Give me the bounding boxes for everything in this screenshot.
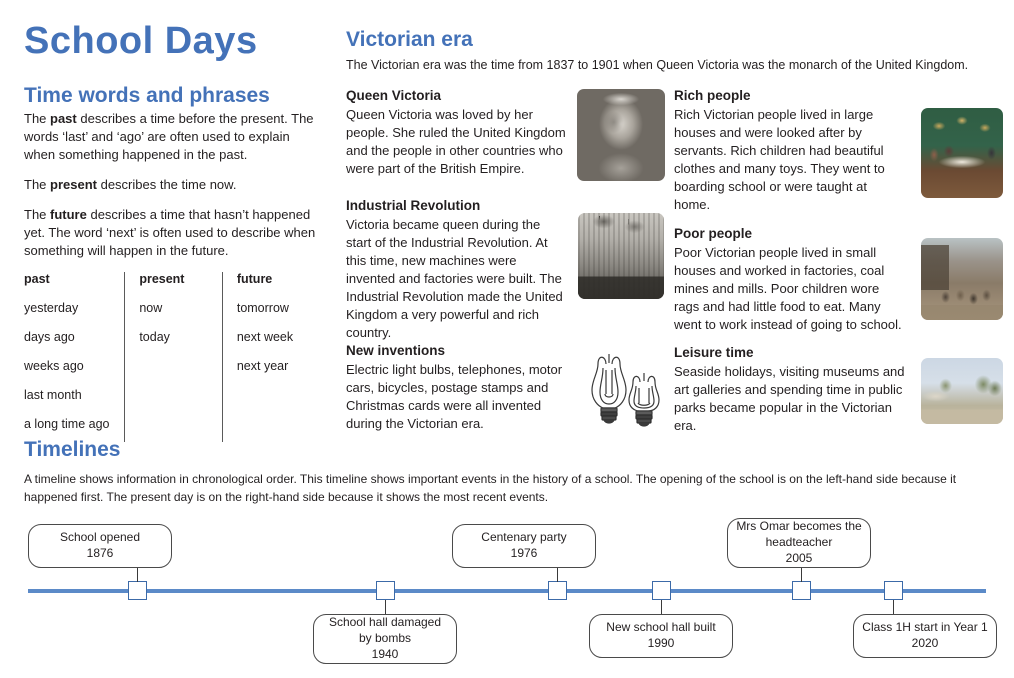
timelines-intro-text: A timeline shows information in chronolo… xyxy=(24,470,986,506)
page-title: School Days xyxy=(24,20,258,63)
block-rich-people: Rich people Rich Victorian people lived … xyxy=(674,88,906,214)
future-word: tomorrow xyxy=(222,297,324,326)
block-new-inventions: New inventions Electric light bulbs, tel… xyxy=(346,343,568,433)
tense-words-table: past present future yesterday now tomorr… xyxy=(24,272,324,442)
past-word: yesterday xyxy=(24,297,125,326)
event-label: Class 1H start in Year 1 xyxy=(862,620,987,636)
present-word-empty xyxy=(125,384,223,413)
table-row: days ago today next week xyxy=(24,326,324,355)
table-row: last month xyxy=(24,384,324,413)
column-header-present: present xyxy=(125,272,223,297)
timeline-event-box[interactable]: New school hall built 1990 xyxy=(589,614,733,658)
block-heading: Queen Victoria xyxy=(346,88,568,103)
event-label: Centenary party xyxy=(481,530,566,546)
block-industrial-revolution: Industrial Revolution Victoria became qu… xyxy=(346,198,568,342)
block-heading: Leisure time xyxy=(674,345,906,360)
section-heading-victorian-era: Victorian era xyxy=(346,28,473,52)
block-queen-victoria: Queen Victoria Queen Victoria was loved … xyxy=(346,88,568,178)
event-year: 1940 xyxy=(372,647,399,663)
event-label: School opened xyxy=(60,530,140,546)
block-text: Victoria became queen during the start o… xyxy=(346,216,568,342)
timeline-marker-2005[interactable] xyxy=(792,581,811,600)
event-label: New school hall built xyxy=(606,620,715,636)
poor-street-scene-painting-image xyxy=(921,238,1003,320)
table-row: weeks ago next year xyxy=(24,355,324,384)
timeline-axis-line xyxy=(28,589,986,593)
event-label: School hall damaged by bombs xyxy=(322,615,448,647)
block-leisure-time: Leisure time Seaside holidays, visiting … xyxy=(674,345,906,435)
future-word-empty xyxy=(222,413,324,442)
timeline-stem-1876 xyxy=(137,568,138,582)
present-word-empty xyxy=(125,413,223,442)
section-heading-time-words: Time words and phrases xyxy=(24,84,270,108)
paragraph-past: The past describes a time before the pre… xyxy=(24,110,316,164)
table-row: yesterday now tomorrow xyxy=(24,297,324,326)
event-year: 2005 xyxy=(786,551,813,567)
event-year: 1976 xyxy=(511,546,538,562)
timeline-stem-1976 xyxy=(557,568,558,582)
block-poor-people: Poor people Poor Victorian people lived … xyxy=(674,226,906,334)
paragraph-present: The present describes the time now. xyxy=(24,176,316,194)
event-year: 1876 xyxy=(87,546,114,562)
event-label: Mrs Omar becomes the headteacher xyxy=(736,519,862,551)
past-word: weeks ago xyxy=(24,355,125,384)
block-text: Electric light bulbs, telephones, motor … xyxy=(346,361,568,433)
present-word-empty xyxy=(125,355,223,384)
block-text: Queen Victoria was loved by her people. … xyxy=(346,106,568,178)
block-text: Rich Victorian people lived in large hou… xyxy=(674,106,906,214)
block-heading: Industrial Revolution xyxy=(346,198,568,213)
rich-dining-room-painting-image xyxy=(921,108,1003,198)
timeline-marker-1876[interactable] xyxy=(128,581,147,600)
timeline-marker-1990[interactable] xyxy=(652,581,671,600)
industrial-factory-engraving-image xyxy=(578,213,664,299)
future-word-empty xyxy=(222,384,324,413)
timeline-event-box[interactable]: School opened 1876 xyxy=(28,524,172,568)
timeline-marker-1976[interactable] xyxy=(548,581,567,600)
timeline-event-box[interactable]: School hall damaged by bombs 1940 xyxy=(313,614,457,664)
column-header-past: past xyxy=(24,272,125,297)
present-word: now xyxy=(125,297,223,326)
timeline-marker-1940[interactable] xyxy=(376,581,395,600)
block-heading: Poor people xyxy=(674,226,906,241)
timeline-diagram: School opened 1876 Centenary party 1976 … xyxy=(0,512,1014,678)
light-bulbs-illustration-image xyxy=(572,346,672,434)
table-header-row: past present future xyxy=(24,272,324,297)
section-heading-timelines: Timelines xyxy=(24,438,121,462)
timeline-stem-2005 xyxy=(801,568,802,582)
block-heading: New inventions xyxy=(346,343,568,358)
paragraph-future: The future describes a time that hasn’t … xyxy=(24,206,316,260)
timeline-marker-2020[interactable] xyxy=(884,581,903,600)
victorian-intro-text: The Victorian era was the time from 1837… xyxy=(346,57,996,74)
event-year: 1990 xyxy=(648,636,675,652)
column-header-future: future xyxy=(222,272,324,297)
timeline-event-box[interactable]: Mrs Omar becomes the headteacher 2005 xyxy=(727,518,871,568)
block-heading: Rich people xyxy=(674,88,906,103)
present-word: today xyxy=(125,326,223,355)
future-word: next year xyxy=(222,355,324,384)
past-word: last month xyxy=(24,384,125,413)
block-text: Poor Victorian people lived in small hou… xyxy=(674,244,906,334)
future-word: next week xyxy=(222,326,324,355)
timeline-event-box[interactable]: Centenary party 1976 xyxy=(452,524,596,568)
queen-victoria-portrait-image xyxy=(577,89,665,181)
past-word: days ago xyxy=(24,326,125,355)
block-text: Seaside holidays, visiting museums and a… xyxy=(674,363,906,435)
timeline-event-box[interactable]: Class 1H start in Year 1 2020 xyxy=(853,614,997,658)
park-promenade-painting-image xyxy=(921,358,1003,424)
worksheet-page: School Days Time words and phrases The p… xyxy=(0,0,1014,678)
time-words-paragraphs: The past describes a time before the pre… xyxy=(24,110,316,272)
event-year: 2020 xyxy=(912,636,939,652)
